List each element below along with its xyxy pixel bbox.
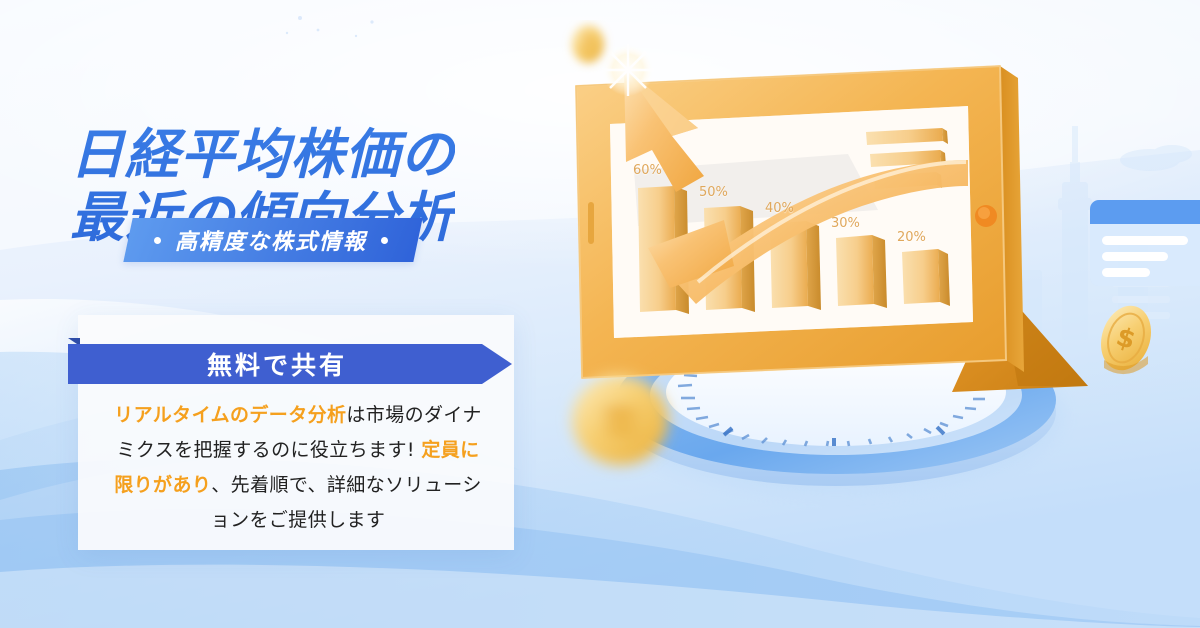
page-title: 日経平均株価の 最近の傾向分析 (70, 60, 455, 313)
offer-description: リアルタイムのデータ分析は市場のダイナミクスを把握するのに役立ちます! 定員に限… (112, 398, 484, 539)
speaker-slot (588, 202, 594, 244)
bullet-dot-right-icon (381, 237, 388, 244)
offer-description-segment-3: 、先着順で、詳細なソリューションをご提供します (211, 474, 482, 531)
coin-left (572, 375, 668, 465)
coin-top (572, 25, 604, 63)
banner-stage: 日経平均株価の 最近の傾向分析 高精度な株式情報 無料で共有 リアルタイムのデー… (0, 0, 1200, 628)
headline-line-1: 日経平均株価の (70, 123, 455, 186)
tablet-device (576, 44, 1024, 378)
bar-label-1: 50% (699, 185, 728, 200)
bar-label-4: 20% (897, 230, 926, 245)
share-ribbon[interactable]: 無料で共有 (68, 338, 512, 384)
bar-label-3: 30% (831, 216, 860, 231)
illustration-svg: $ (548, 20, 1200, 520)
bullet-dot-left-icon (154, 237, 161, 244)
tablet-illustration: $ 60% 50% 40% 30% 20% (548, 20, 1200, 520)
bar-label-0: 60% (633, 163, 662, 178)
subtitle-badge: 高精度な株式情報 (123, 218, 422, 262)
coin-right: $ (1093, 299, 1159, 377)
ribbon-label: 無料で共有 (207, 346, 373, 382)
copy-column: 日経平均株価の 最近の傾向分析 高精度な株式情報 無料で共有 リアルタイムのデー… (0, 0, 560, 628)
subtitle-badge-label: 高精度な株式情報 (175, 224, 367, 256)
bar-label-2: 40% (765, 201, 794, 216)
offer-description-segment-0: リアルタイムのデータ分析 (114, 404, 346, 426)
